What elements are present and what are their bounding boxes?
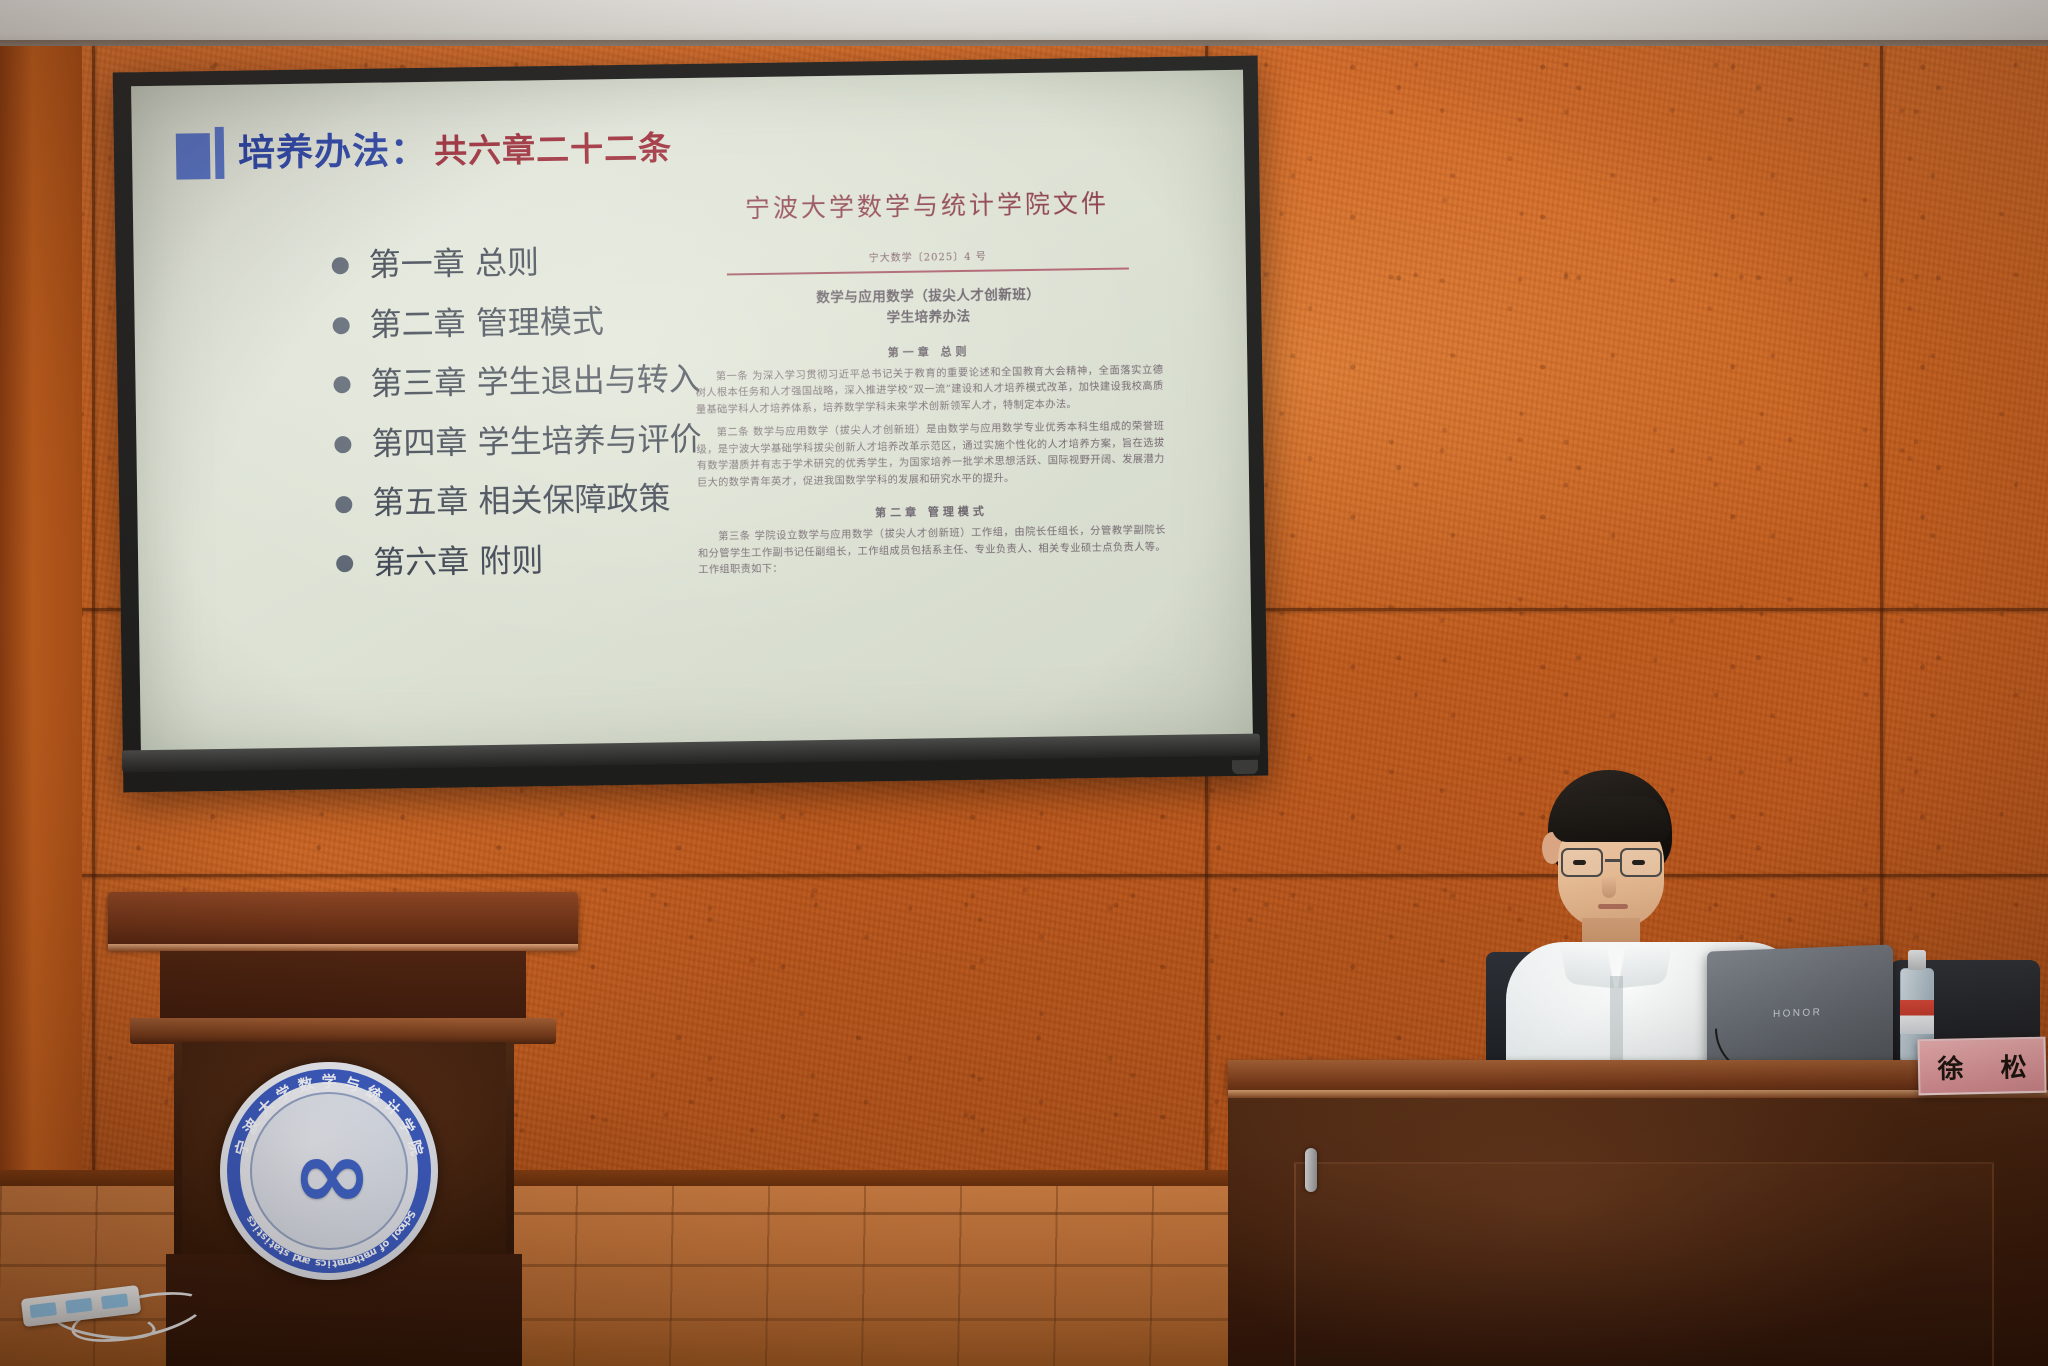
conference-desk [1228, 1060, 2048, 1366]
wall-left-pillar [0, 46, 82, 1186]
nameplate: 徐 松 [1917, 1037, 2046, 1096]
document-number: 宁大数学〔2025〕4 号 [694, 245, 1162, 267]
slide-title: 培养办法： 共六章二十二条 [176, 120, 673, 179]
slide-bullet-list: 第一章 总则 第二章 管理模式 第三章 学生退出与转入 第四章 学生培养与评价 … [332, 244, 704, 607]
bullet-dot-icon [332, 257, 349, 274]
bullet-label: 第一章 总则 [369, 246, 540, 282]
list-item: 第二章 管理模式 [332, 303, 700, 342]
school-emblem: ∞ 宁波大学数学与统计学院 School of mathematics and … [220, 1062, 438, 1280]
slide-title-sub-text: 共六章二十二条 [434, 131, 672, 168]
glasses-icon [1560, 848, 1666, 878]
document-chapter-1: 第一章 总则 [695, 340, 1163, 363]
desk-panel-inset [1294, 1162, 1994, 1366]
bullet-dot-icon [334, 436, 351, 453]
podium-neck [160, 951, 526, 1025]
embedded-document-image: 宁波大学数学与统计学院文件 宁大数学〔2025〕4 号 数学与应用数学（拔尖人才… [693, 183, 1169, 710]
slide-title-main-text: 培养办法： [238, 131, 429, 171]
speaker-hair-fringe [1552, 796, 1670, 842]
bullet-label: 第五章 相关保障政策 [372, 483, 671, 521]
document-chapter-2: 第二章 管理模式 [697, 500, 1165, 523]
document-article-1: 第一条 为深入学习贯彻习近平总书记关于教育的重要论述和全国教育大会精神，全面落实… [695, 363, 1164, 419]
bullet-dot-icon [336, 555, 353, 572]
bottle-cap [1908, 950, 1926, 970]
speaker-nose [1602, 876, 1616, 898]
laptop-brand-label: HONOR [1773, 1007, 1822, 1020]
podium-top-edge [108, 944, 578, 951]
list-item: 第四章 学生培养与评价 [334, 423, 702, 462]
podium-shelf [130, 1018, 556, 1044]
bottle-label [1900, 1000, 1934, 1034]
screen-pull-knob[interactable] [1232, 760, 1258, 774]
bullet-label: 第四章 学生培养与评价 [371, 423, 702, 461]
list-item: 第六章 附则 [336, 542, 704, 581]
bullet-dot-icon [335, 496, 352, 513]
title-accent-mark-icon [176, 127, 225, 180]
bullet-label: 第三章 学生退出与转入 [370, 363, 701, 401]
nameplate-text: 徐 松 [1923, 1046, 2041, 1085]
lecture-hall-scene: 培养办法： 共六章二十二条 第一章 总则 第二章 管理模式 第三章 学生退出与转… [0, 0, 2048, 1366]
bullet-dot-icon [333, 377, 350, 394]
wall-seam-vertical-3 [92, 46, 95, 1186]
desk-front-panel [1228, 1098, 2048, 1366]
list-item: 第一章 总则 [332, 244, 700, 283]
desk-handle[interactable] [1305, 1148, 1317, 1192]
document-divider [727, 267, 1129, 275]
speaker-mouth [1598, 904, 1628, 909]
power-strip [22, 1286, 212, 1346]
list-item: 第五章 相关保障政策 [335, 482, 703, 521]
emblem-english-ring-text: School of mathematics and statistics [220, 1062, 438, 1280]
bullet-label: 第六章 附则 [373, 544, 544, 580]
podium-top-surface [108, 892, 578, 948]
document-article-3: 第三条 学院设立数学与应用数学（拔尖人才创新班）工作组，由院长任组长，分管教学副… [698, 523, 1167, 579]
bullet-dot-icon [333, 317, 350, 334]
projected-slide: 培养办法： 共六章二十二条 第一章 总则 第二章 管理模式 第三章 学生退出与转… [131, 70, 1253, 758]
list-item: 第三章 学生退出与转入 [333, 363, 701, 402]
document-header: 宁波大学数学与统计学院文件 [693, 183, 1161, 226]
document-article-2: 第二条 数学与应用数学（拔尖人才创新班）是由数学与应用数学专业优秀本科生组成的荣… [696, 419, 1165, 492]
bullet-label: 第二章 管理模式 [369, 305, 604, 342]
